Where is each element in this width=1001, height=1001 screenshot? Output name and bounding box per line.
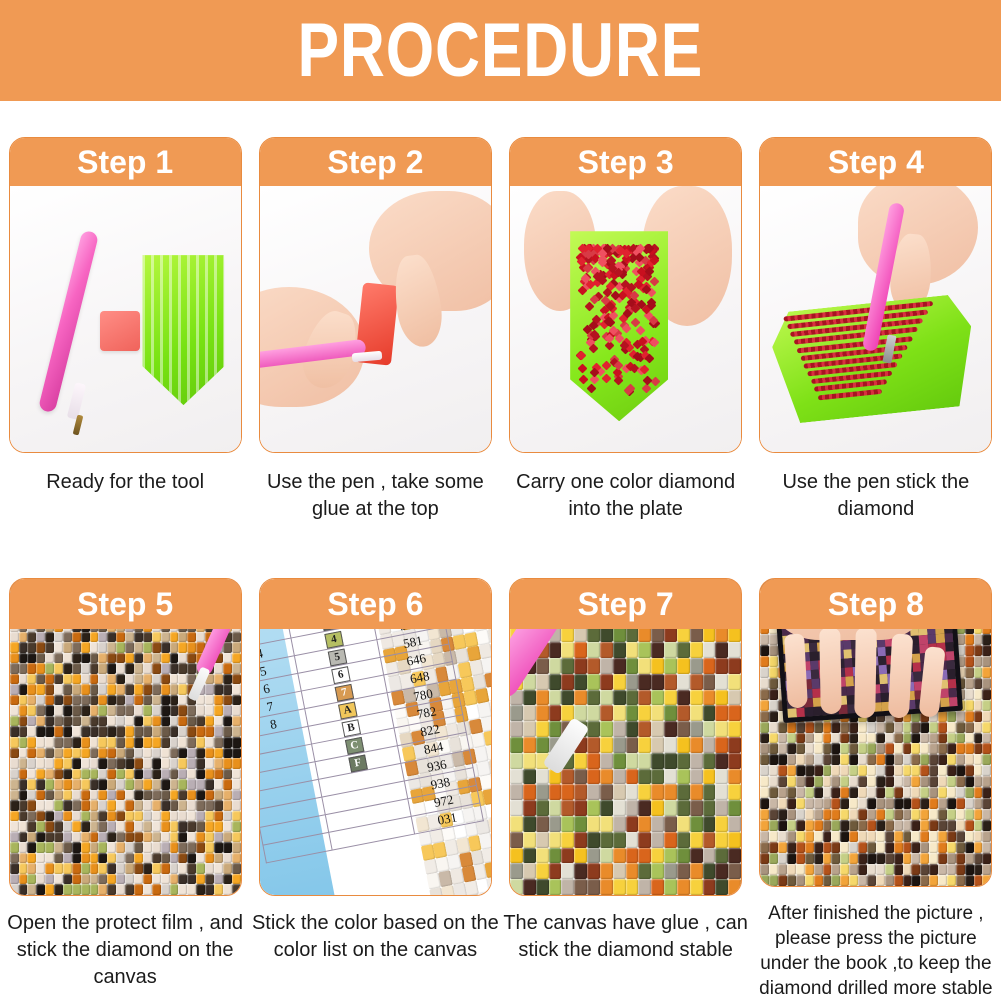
symbol-swatch: F (348, 754, 368, 772)
symbol-swatch: 6 (331, 666, 351, 684)
procedure-infographic: PROCEDURE Step 1 (0, 0, 1001, 1001)
step-card-3: Step 3 Carry one color diamond into the … (501, 137, 751, 562)
symbol-swatch: 7 (334, 684, 354, 702)
symbol-swatch: 4 (324, 631, 344, 649)
step-3-card: Step 3 (509, 137, 742, 453)
step-card-8: Step 8 After finished the picture , plea… (751, 578, 1001, 1001)
symbol-swatch: C (345, 737, 365, 755)
step-4-badge-label: Step 4 (828, 146, 924, 178)
step-4-badge: Step 4 (760, 138, 991, 186)
step-7-badge: Step 7 (510, 579, 741, 629)
tray-grooves-icon (142, 255, 224, 405)
step-5-caption: Open the protect film , and stick the di… (1, 910, 249, 991)
step-1-badge-label: Step 1 (77, 146, 173, 178)
steps-row-top: Step 1 Ready for the tool (0, 137, 1001, 562)
symbol-swatch: A (338, 701, 358, 719)
step-2-badge-label: Step 2 (327, 146, 423, 178)
step-5-badge-label: Step 5 (77, 588, 173, 620)
step-card-1: Step 1 Ready for the tool (0, 137, 250, 562)
step-7-card: Step 7 (509, 578, 742, 896)
glue-square-icon (100, 311, 140, 351)
steps-row-bottom: Step 5 Open the protect film , and stick… (0, 578, 1001, 1001)
symbol-swatch: 5 (328, 648, 348, 666)
step-card-7: Step 7 The canvas have glue , can stick … (501, 578, 751, 1001)
step-4-caption: Use the pen stick the diamond (759, 469, 992, 523)
step-5-badge: Step 5 (10, 579, 241, 629)
step-card-2: Step 2 Use the pen , take some glue at t… (250, 137, 500, 562)
step-6-caption: Stick the color based on the color list … (251, 910, 499, 964)
red-diamonds-icon (577, 245, 659, 395)
step-7-badge-label: Step 7 (578, 588, 674, 620)
step-2-card: Step 2 (259, 137, 492, 453)
step-1-image (10, 186, 241, 452)
step-3-caption: Carry one color diamond into the plate (509, 469, 742, 523)
page-header-banner: PROCEDURE (0, 0, 1001, 101)
step-8-card: Step 8 (759, 578, 992, 887)
finger-icon (888, 634, 913, 719)
step-3-badge: Step 3 (510, 138, 741, 186)
finger-icon (784, 634, 808, 709)
step-card-4: Step 4 Use the pen stick the diamond (751, 137, 1001, 562)
step-card-5: Step 5 Open the protect film , and stick… (0, 578, 250, 1001)
step-6-badge: Step 6 (260, 579, 491, 629)
step-8-caption: After finished the picture , please pres… (750, 901, 1001, 1001)
finger-icon (854, 628, 877, 718)
step-1-card: Step 1 (9, 137, 242, 453)
step-6-card: Serial Symbol DMC 1122300333074431055581… (259, 578, 492, 896)
step-6-badge-label: Step 6 (327, 588, 423, 620)
step-8-badge-label: Step 8 (828, 588, 924, 620)
finger-icon (820, 628, 842, 714)
pink-pen-icon (38, 229, 99, 413)
step-card-6: Serial Symbol DMC 1122300333074431055581… (250, 578, 500, 1001)
step-7-caption: The canvas have glue , can stick the dia… (502, 910, 750, 964)
symbol-swatch: B (341, 719, 361, 737)
step-2-badge: Step 2 (260, 138, 491, 186)
step-3-badge-label: Step 3 (578, 146, 674, 178)
page-title: PROCEDURE (298, 13, 704, 89)
step-5-card: Step 5 (9, 578, 242, 896)
step-8-badge: Step 8 (760, 579, 991, 629)
step-2-image (260, 186, 491, 452)
step-4-card: Step 4 (759, 137, 992, 453)
step-2-caption: Use the pen , take some glue at the top (259, 469, 492, 523)
step-1-badge: Step 1 (10, 138, 241, 186)
step-1-caption: Ready for the tool (9, 469, 242, 496)
step-3-image (510, 186, 741, 452)
pen-tip-icon (67, 382, 86, 420)
step-4-image (760, 186, 991, 452)
